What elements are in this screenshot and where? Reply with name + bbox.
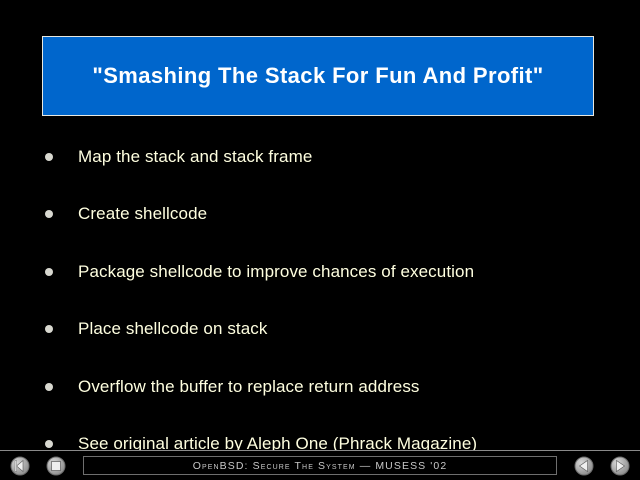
list-item: Place shellcode on stack <box>42 301 602 359</box>
bullet-dot-icon <box>45 268 53 276</box>
list-item: Overflow the buffer to replace return ad… <box>42 358 602 416</box>
next-slide-button[interactable] <box>609 455 631 477</box>
nav-left-group <box>9 455 67 477</box>
stop-button[interactable] <box>45 455 67 477</box>
list-item-label: Create shellcode <box>78 204 207 224</box>
presentation-slide: "Smashing The Stack For Fun And Profit" … <box>0 0 640 480</box>
first-slide-button[interactable] <box>9 455 31 477</box>
previous-slide-button[interactable] <box>573 455 595 477</box>
bullet-dot-icon <box>45 383 53 391</box>
bullet-dot-icon <box>45 153 53 161</box>
list-item: Map the stack and stack frame <box>42 128 602 186</box>
list-item-label: Place shellcode on stack <box>78 319 268 339</box>
slide-title-text: "Smashing The Stack For Fun And Profit" <box>92 63 543 89</box>
bullet-dot-icon <box>45 325 53 333</box>
list-item-label: Package shellcode to improve chances of … <box>78 262 474 282</box>
list-item-label: Map the stack and stack frame <box>78 147 312 167</box>
nav-right-group <box>573 455 631 477</box>
footer-caption-box: OpenBSD: Secure The System — MUSESS '02 <box>83 456 557 475</box>
bullet-dot-icon <box>45 210 53 218</box>
bullet-dot-icon <box>45 440 53 448</box>
list-item: Create shellcode <box>42 186 602 244</box>
slide-bullet-list: Map the stack and stack frame Create she… <box>42 128 602 473</box>
slide-title-banner: "Smashing The Stack For Fun And Profit" <box>42 36 594 116</box>
list-item-label: Overflow the buffer to replace return ad… <box>78 377 420 397</box>
list-item: Package shellcode to improve chances of … <box>42 243 602 301</box>
slide-navigation-bar: OpenBSD: Secure The System — MUSESS '02 <box>0 451 640 480</box>
footer-caption-text: OpenBSD: Secure The System — MUSESS '02 <box>193 460 448 472</box>
